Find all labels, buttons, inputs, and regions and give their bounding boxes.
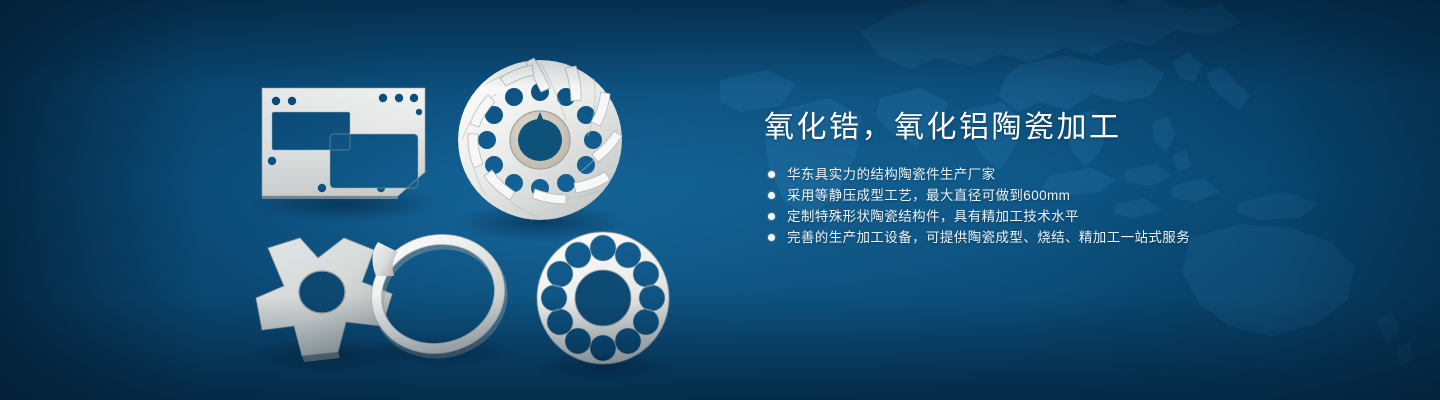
feature-list: 华东具实力的结构陶瓷件生产厂家 采用等静压成型工艺，最大直径可做到600mm 定…: [764, 164, 1384, 248]
bullet-dot-icon: [768, 234, 775, 241]
feature-text: 华东具实力的结构陶瓷件生产厂家: [787, 164, 996, 185]
bullet-dot-icon: [768, 213, 775, 220]
feature-text: 采用等静压成型工艺，最大直径可做到600mm: [787, 185, 1070, 206]
feature-text: 定制特殊形状陶瓷结构件，具有精加工技术水平: [787, 206, 1079, 227]
banner-text-block: 氧化锆，氧化铝陶瓷加工 华东具实力的结构陶瓷件生产厂家 采用等静压成型工艺，最大…: [764, 108, 1384, 248]
list-item: 定制特殊形状陶瓷结构件，具有精加工技术水平: [764, 206, 1384, 227]
product-banner: 氧化锆，氧化铝陶瓷加工 华东具实力的结构陶瓷件生产厂家 采用等静压成型工艺，最大…: [0, 0, 1440, 400]
page-title: 氧化锆，氧化铝陶瓷加工: [764, 108, 1384, 148]
feature-text: 完善的生产加工设备，可提供陶瓷成型、烧结、精加工一站式服务: [787, 227, 1190, 248]
bullet-dot-icon: [768, 171, 775, 178]
list-item: 完善的生产加工设备，可提供陶瓷成型、烧结、精加工一站式服务: [764, 227, 1384, 248]
bullet-dot-icon: [768, 192, 775, 199]
list-item: 采用等静压成型工艺，最大直径可做到600mm: [764, 185, 1384, 206]
list-item: 华东具实力的结构陶瓷件生产厂家: [764, 164, 1384, 185]
